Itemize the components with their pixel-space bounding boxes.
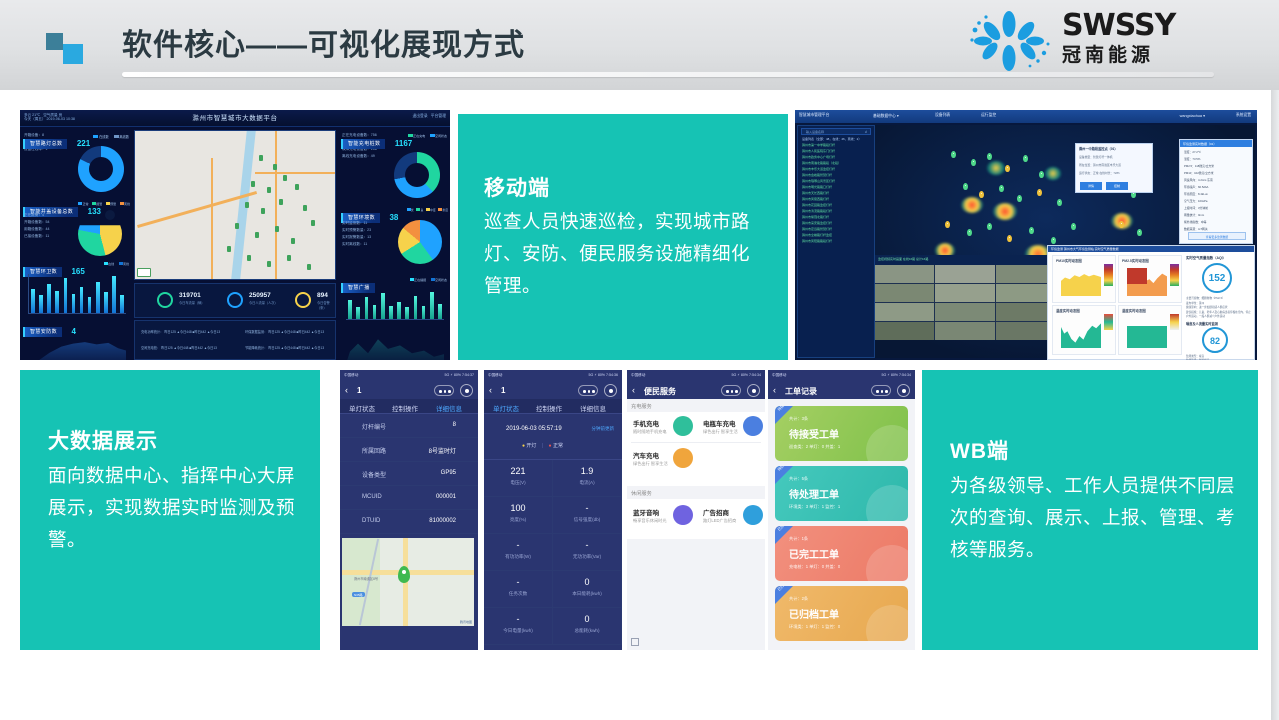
aqi-panel-title: 环境监测 滁州市大气环境监测站 实时空气质量数据 [1051, 247, 1119, 251]
wo-sub-2: 共计：1条 [789, 536, 808, 542]
timestamp-block: 2019-06-03 05:57:19 分钟前更新 ● 开灯 | ● 正常 [484, 416, 622, 460]
aqi-panel[interactable]: 环境监测 滁州市大气环境监测站 实时空气质量数据 PM10实时动态图 PM2.5… [1047, 245, 1255, 360]
logo-wordmark: SWSSY [1062, 10, 1175, 42]
gis-legend-title: 环境监测实时数据（01） [1180, 140, 1252, 147]
service-section-heading-1: 休闲服务 [631, 490, 652, 497]
chart-bar [88, 297, 92, 313]
bigdata-body: 面向数据中心、指挥中心大屏展示，实现数据实时监测及预警。 [48, 460, 310, 556]
back-icon[interactable]: ‹ [489, 385, 492, 395]
legend-broadcast: 正在播报 空闲状态 [410, 278, 447, 282]
detail-row: DTUID 81000002 [340, 510, 478, 534]
tree-item-11[interactable]: 滁州市清流路路段灯杆 [802, 209, 832, 213]
phone-lamp-detail[interactable]: 中国移动 5G ⚡ 80% 7:54:37 ‹ 1 单灯状态 控制操作 详细信息… [340, 370, 478, 650]
metric-value-9: 0 [553, 614, 621, 624]
summary-label-1: 今日人流量（人次） [249, 300, 278, 305]
dashboard-center: 319701 今日车流量（辆） 250957 今日人流量（人次） 894 今日告… [132, 128, 338, 360]
gis-nav-item-3[interactable]: 运行监控 [981, 113, 996, 118]
metric-label-6: 任务次数 [484, 591, 552, 597]
metric-cell: - 今日电量(kwh) [484, 608, 553, 645]
wo-title-1: 待处理工单 [789, 486, 839, 501]
phone-nav-title: 工单记录 [785, 386, 817, 397]
camera-tile[interactable] [875, 265, 934, 283]
web-text-block: WB端 为各级领导、工作人员提供不同层次的查询、展示、上报、管理、考核等服务。 [922, 370, 1258, 650]
map-badge: N35路 [352, 592, 365, 597]
more-menu-icon[interactable] [871, 385, 891, 396]
metric-cell: - 有功功率(W) [484, 534, 553, 571]
gis-popup-row-1: 所在位置：滁州市南谯区丰乐大道 [1079, 163, 1121, 167]
status-timestamp: 2019-06-03 05:57:19 [506, 426, 562, 432]
tree-item-5[interactable]: 滁州市会峰路智慧灯杆 [802, 173, 832, 177]
state-alarm-label: 正常 [553, 443, 563, 449]
camera-tile[interactable] [875, 303, 934, 321]
work-order-card[interactable]: 待处理 共计：5条 待处理工单 环境类：3 单灯：1 监控：1 [775, 466, 908, 521]
tree-item-12[interactable]: 滁州市紫薇北路灯杆 [802, 215, 829, 219]
gis-popup-title: 滁州一中路段监控点（01） [1079, 146, 1118, 151]
status-bar: 中国移动 5G ⚡ 80% 7:54:37 [340, 370, 478, 380]
service-section-0: 手机充电 随时随地手机充电 电瓶车充电 绿色出行 智享生活 汽车充电 绿色出行 … [627, 412, 765, 486]
carrier-label: 中国移动 [344, 373, 358, 378]
metric-value-4: - [484, 540, 552, 550]
aqi-note-3: 建议措施：儿童、老年人及心脏病患者停留在室内，停止户外运动，一般人群减少户外运动 [1186, 311, 1252, 320]
status-bar: 中国移动 5G ⚡ 80% 7:54:34 [627, 370, 765, 380]
aqi-sub-title: 噪音及人流量实时监测 [1186, 321, 1218, 326]
work-order-card[interactable]: 待接受 共计：3条 待接受工单 巡查类：2 单灯：0 井盖：1 [775, 406, 908, 461]
camera-tile[interactable] [935, 322, 994, 340]
state-on-label: 开灯 [526, 443, 536, 449]
aqi-index-title: 实时空气质量指数（AQI） [1186, 255, 1252, 260]
search-icon[interactable]: ☌ [865, 130, 867, 134]
metric-label-0: 电压(V) [484, 480, 552, 486]
gis-legend-row-4: 风速风向：4.2m/s 东南 [1184, 177, 1214, 184]
legend-chargers: 正在充电 空闲状态 [408, 134, 447, 138]
bar-chart-broadcast [346, 290, 444, 320]
chart-bar [64, 278, 68, 313]
gis-legend-row-2: PM2.5：118微克/立方米 [1184, 163, 1214, 170]
service-title-0[interactable]: 手机充电 [633, 418, 659, 428]
phone-tabs[interactable]: 单灯状态 控制操作 详细信息 [484, 399, 622, 414]
chart-bar [422, 306, 426, 320]
gis-legend-row-7: 空气压力：101kPa [1184, 198, 1214, 205]
decor-square-dark [46, 33, 63, 50]
metric-label-1: 电流(A) [553, 480, 621, 486]
wo-title-3: 已归档工单 [789, 606, 839, 621]
service-title-4[interactable]: 广告招商 [703, 507, 729, 517]
gis-popup-control-button[interactable]: 控制 [1106, 182, 1128, 190]
metric-label-9: 总能耗(kwh) [553, 628, 621, 634]
close-target-icon[interactable] [897, 384, 910, 397]
slide-header: 软件核心——可视化展现方式 SWSSY 冠南能源 [0, 0, 1279, 90]
phone-nav-title: 1 [501, 386, 505, 395]
tree-item-1[interactable]: 滁州市人民医院东门灯杆 [802, 149, 835, 153]
metric-value-5: - [553, 540, 621, 550]
metric-cell: 221 电压(V) [484, 460, 553, 497]
aqi-chart-temp: 温度实时动态图 [1052, 305, 1116, 355]
section-label-security: 智慧安防数 [23, 327, 62, 337]
tree-item-6[interactable]: 滁州市琅琊山风景区灯杆 [802, 179, 835, 183]
metric-value-3: - [553, 503, 621, 513]
chart-bar [414, 296, 418, 319]
phone-tabs[interactable]: 单灯状态 控制操作 详细信息 [340, 399, 478, 414]
aqi-index-block: 实时空气质量指数（AQI） 152 主要污染物：细颗粒物（PM2.5） 发布单位… [1186, 255, 1252, 357]
wo-sub-3: 共计：2条 [789, 596, 808, 602]
metric-cell: 1.9 电流(A) [553, 460, 622, 497]
map-credit: 腾讯地图 [460, 620, 472, 624]
pie-chart-environment [398, 220, 442, 264]
refresh-label[interactable]: 分钟前更新 [592, 426, 615, 432]
wo-meta-0: 巡查类：2 单灯：0 井盖：1 [789, 444, 840, 450]
kv-row-1: 空闲充电桩： 昨日125 ▲今日448 ■昨日442 ▲今日13 [141, 345, 217, 350]
detail-label-3: MCUID [362, 494, 382, 500]
home-indicator-icon [631, 638, 639, 646]
aqi-sub-note-1: 监测等级：轻度噪音 [1186, 359, 1215, 360]
service-sub-2: 绿色出行 智享生活 [633, 461, 668, 467]
camera-tile[interactable] [996, 322, 1055, 340]
ad-screen-icon [743, 505, 763, 525]
phone-nav-title: 便民服务 [644, 386, 676, 397]
ebike-charge-icon [743, 416, 763, 436]
carrier-label: 中国移动 [772, 373, 786, 378]
kv-row-3: 节能降耗统计： 昨日125 ▲今日448 ■昨日442 ▲今日13 [245, 345, 324, 350]
bigdata-text-block: 大数据展示 面向数据中心、指挥中心大屏展示，实现数据实时监测及预警。 [20, 370, 320, 650]
tree-item-10[interactable]: 滁州市花园路监控灯杆 [802, 203, 832, 207]
camera-tile[interactable] [935, 265, 994, 283]
phone-nav-title: 1 [357, 386, 361, 395]
camera-tile[interactable] [935, 284, 994, 302]
chart-bar [438, 304, 442, 319]
kv-row-2: 环保数据监测： 昨日125 ▲今日448 ■昨日442 ▲今日13 [245, 329, 324, 334]
chart-bar [112, 276, 116, 313]
gis-legend-row-6: 环境照度：8.4kLux [1184, 191, 1214, 198]
metric-label-3: 信号强度(db) [553, 517, 621, 523]
tree-item-3[interactable]: 滁州市南谯北路路段（北段） [802, 161, 841, 165]
gis-popup-detail-button[interactable]: 详情 [1080, 182, 1102, 190]
logo-chinese-name: 冠南能源 [1062, 44, 1175, 68]
gis-popup[interactable]: 滁州一中路段监控点（01） 设备类型：智慧灯杆一体机 所在位置：滁州市南谯区丰乐… [1075, 143, 1153, 193]
service-section-heading-0: 充电服务 [631, 403, 652, 410]
metric-cell: 0 总能耗(kwh) [553, 608, 622, 645]
tree-item-9[interactable]: 滁州市凤凰西路灯杆 [802, 197, 829, 201]
chart-bar [397, 302, 401, 319]
metric-value-7: 0 [553, 577, 621, 587]
chart-bar [381, 293, 385, 319]
metric-label-8: 今日电量(kwh) [484, 628, 552, 634]
aqi-chart-pm10-title: PM10实时动态图 [1056, 258, 1082, 263]
metric-cell: 100 亮度(%) [484, 497, 553, 534]
carrier-label: 中国移动 [631, 373, 645, 378]
detail-value-1: 8号监时灯 [429, 446, 456, 455]
camera-tile[interactable] [875, 284, 934, 302]
tab-detail[interactable]: 详细信息 [436, 403, 462, 413]
gis-legend-row-0: 温度：27.2℃ [1184, 149, 1214, 156]
stats-environment: 实时监测数：11实时预警数量：23实时报警数量：13实时离线数：11 [342, 220, 371, 248]
summary-label-2: 今日告警（条） [317, 300, 335, 310]
detail-label-1: 所属回路 [362, 446, 386, 455]
web-heading: WB端 [950, 435, 1009, 465]
detail-label-2: 设备类型 [362, 470, 386, 479]
metric-label-5: 无功功率(Var) [553, 554, 621, 560]
tab-control[interactable]: 控制操作 [392, 403, 418, 413]
section-value-manholes: 133 [88, 207, 101, 216]
gis-settings-link[interactable]: 系统设置 [1236, 113, 1251, 118]
gis-map-canvas[interactable]: 滁州一中路段监控点（01） 设备类型：智慧灯杆一体机 所在位置：滁州市南谯区丰乐… [875, 125, 1255, 358]
detail-row: 所属回路 8号监时灯 [340, 438, 478, 462]
service-sub-0: 随时随地手机充电 [633, 429, 667, 435]
gis-console-screenshot[interactable]: 智慧城市管理平台 基础数据中心 ▾ 设备列表 运行监控 wangxiaohua … [795, 110, 1257, 360]
gis-legend-row-5: 环境噪声：60.5dbA [1184, 184, 1214, 191]
chart-bar [96, 282, 100, 313]
gis-popup-row-2: 运行状态：正常 在线时长：728h [1079, 171, 1120, 175]
phone-navbar: ‹ 便民服务 [627, 380, 765, 399]
detail-label-0: 灯杆编号 [362, 422, 386, 431]
service-sub-1: 绿色出行 智享生活 [703, 429, 738, 435]
tree-item-7[interactable]: 滁州市明光路路口灯杆 [802, 185, 832, 189]
aqi-chart-pm10: PM10实时动态图 [1052, 255, 1116, 303]
metric-cell: 0 本日能耗(kwh) [553, 571, 622, 608]
alarm-icon: ● [549, 443, 552, 449]
camera-tile[interactable] [996, 303, 1055, 321]
bigdata-dashboard-screenshot[interactable]: 多云 21℃ 空气质量 良 今天（周五） 2019-06-03 10:38 滁州… [20, 110, 450, 360]
aqi-panel-header: 环境监测 滁州市大气环境监测站 实时空气质量数据 [1048, 246, 1254, 252]
tree-item-2[interactable]: 滁州市政务中心广场灯杆 [802, 155, 835, 159]
tab-control[interactable]: 控制操作 [536, 403, 562, 413]
wo-meta-1: 环境类：3 单灯：1 监控：1 [789, 504, 840, 510]
map-label: 滁州市南谯区8号 [354, 576, 378, 581]
phone-navbar: ‹ 工单记录 [768, 380, 915, 399]
decor-square-blue [63, 44, 83, 64]
web-body: 为各级领导、工作人员提供不同层次的查询、展示、上报、管理、考核等服务。 [950, 470, 1246, 566]
metric-value-1: 1.9 [553, 466, 621, 476]
mobile-heading: 移动端 [484, 172, 550, 202]
metric-value-8: - [484, 614, 552, 624]
status-bar: 中国移动 5G ⚡ 80% 7:54:34 [768, 370, 915, 380]
chart-bar [356, 307, 360, 319]
aqi-chart-temp-title: 温度实时动态图 [1056, 308, 1080, 313]
metric-cell: - 任务次数 [484, 571, 553, 608]
pie-chart-manholes [78, 212, 122, 256]
map-marker-icon [398, 566, 410, 583]
tab-lamp-status[interactable]: 单灯状态 [349, 403, 375, 413]
close-target-icon[interactable] [604, 384, 617, 397]
metric-label-4: 有功功率(W) [484, 554, 552, 560]
gis-legend-row-9: 雨量统计：0mm [1184, 212, 1214, 219]
service-sub-3: 畅享音乐休闲时光 [633, 518, 667, 524]
metric-label-7: 本日能耗(kwh) [553, 591, 621, 597]
tree-root[interactable]: 设备列表（全部：48，在线：46，离线：2） [802, 137, 861, 141]
tab-detail[interactable]: 详细信息 [580, 403, 606, 413]
dashboard-left-column: 智慧路灯总数 221 在线数 离线数 开箱设备：8开箱总数：212设备在线率：1… [20, 128, 132, 360]
phone-work-orders[interactable]: 中国移动 5G ⚡ 80% 7:54:34 ‹ 工单记录 待接受 共计：3条 待… [768, 370, 915, 650]
lamp-on-icon: ● [522, 443, 525, 449]
detail-value-4: 81000002 [429, 518, 456, 524]
tree-item-15[interactable]: 滁州市全椒路灯杆监控 [802, 233, 832, 237]
service-title-3[interactable]: 蓝牙音响 [633, 507, 659, 517]
work-order-card[interactable]: 已完工 共计：1条 已完工工单 充电桩：1 单灯：0 井盖：0 [775, 526, 908, 581]
location-map[interactable]: 滁州市南谯区8号 N35路 腾讯地图 [342, 538, 474, 626]
brand-logo: SWSSY 冠南能源 [966, 8, 1221, 74]
car-charge-icon [673, 448, 693, 468]
aqi-chart-humidity: 湿度实时动态图 [1118, 305, 1182, 355]
more-menu-icon[interactable] [721, 385, 741, 396]
dashboard-title: 滁州市智慧城市大数据平台 [192, 112, 277, 122]
slide-right-edge [1271, 90, 1279, 720]
section-label-chargers: 智能充电桩数 [341, 139, 385, 149]
summary-value-0: 319701 [179, 292, 201, 299]
bar-chart-sanitation [28, 274, 126, 314]
detail-row: MCUID 000001 [340, 486, 478, 510]
city-map[interactable] [134, 130, 336, 280]
camera-tile[interactable] [996, 265, 1055, 283]
page-title: 软件核心——可视化展现方式 [122, 20, 525, 64]
bigdata-heading: 大数据展示 [48, 425, 158, 455]
service-section-1: 蓝牙音响 畅享音乐休闲时光 广告招商 路灯LED广告招商 [627, 499, 765, 539]
chart-bar [389, 306, 393, 319]
summary-value-2: 894 [317, 292, 328, 299]
back-icon[interactable]: ‹ [345, 385, 348, 395]
detail-value-3: 000001 [436, 494, 456, 500]
back-icon[interactable]: ‹ [632, 385, 635, 395]
camera-tile[interactable] [996, 284, 1055, 302]
metric-cell: - 信号强度(db) [553, 497, 622, 534]
chart-bar [55, 291, 59, 313]
chart-bar [31, 289, 35, 313]
legend-manholes: 正常 报警 预警 离线 [78, 202, 130, 206]
status-right: 5G ⚡ 80% 7:54:34 [732, 373, 762, 377]
wo-sub-0: 共计：3条 [789, 416, 808, 422]
gis-nav-item-0[interactable]: 智慧城市管理平台 [799, 113, 829, 118]
chart-bar [373, 305, 377, 319]
metric-value-0: 221 [484, 466, 552, 476]
chart-bar [47, 284, 51, 313]
section-value-lamps: 221 [77, 139, 90, 148]
summary-cards: 319701 今日车流量（辆） 250957 今日人流量（人次） 894 今日告… [134, 283, 336, 318]
gis-device-tree[interactable]: 输入设备名称 ☌ 设备列表（全部：48，在线：46，离线：2） 滁州市第一中学路… [797, 125, 875, 358]
service-title-2[interactable]: 汽车充电 [633, 450, 659, 460]
section-value-environment: 38 [389, 213, 398, 222]
gis-user-menu[interactable]: wangxiaohua ▾ [1180, 113, 1205, 118]
gis-popup-row-0: 设备类型：智慧灯杆一体机 [1079, 155, 1113, 159]
dashboard-topbar-actions[interactable]: 退出登录 平台管理 [412, 114, 446, 119]
gis-legend-row-3: PM10：102微克/立方米 [1184, 170, 1214, 177]
wo-sub-1: 共计：5条 [789, 476, 808, 482]
chart-bar [348, 300, 352, 319]
detail-row: 灯杆编号 8 [340, 414, 478, 438]
metric-value-6: - [484, 577, 552, 587]
camera-tile[interactable] [875, 322, 934, 340]
close-target-icon[interactable] [460, 384, 473, 397]
section-label-lamps: 智慧路灯总数 [23, 139, 67, 149]
tab-lamp-status[interactable]: 单灯状态 [493, 403, 519, 413]
aqi-sub-value: 82 [1202, 327, 1228, 353]
legend-lamps: 在线数 离线数 [93, 134, 129, 139]
status-bar: 中国移动 5G ⚡ 80% 7:54:36 [484, 370, 622, 380]
chart-bar [72, 294, 76, 313]
camera-tile[interactable] [935, 303, 994, 321]
mobile-text-block: 移动端 巡查人员快速巡检，实现城市路灯、安防、便民服务设施精细化管理。 [458, 114, 788, 360]
phone-charge-icon [673, 416, 693, 436]
legend-environment: 优 良 中度 重度 [407, 208, 448, 212]
status-right: 5G ⚡ 80% 7:54:36 [589, 373, 619, 377]
kv-statistics: 充电功率统计： 昨日125 ▲今日448 ■昨日442 ▲今日13 空闲充电桩：… [134, 320, 336, 360]
back-icon[interactable]: ‹ [773, 385, 776, 395]
detail-value-2: GP95 [441, 470, 456, 476]
detail-row: 设备类型 GP95 [340, 462, 478, 486]
aqi-chart-pm25-title: PM2.5实时动态图 [1122, 258, 1149, 263]
more-menu-icon[interactable] [578, 385, 598, 396]
chart-bar [39, 295, 43, 313]
summary-label-0: 今日车流量（辆） [179, 300, 205, 305]
phone-public-service[interactable]: 中国移动 5G ⚡ 80% 7:54:34 ‹ 便民服务 充电服务 手机充电 随… [627, 370, 765, 650]
chart-bar [104, 292, 108, 313]
metric-cell: - 无功功率(Var) [553, 534, 622, 571]
gis-nav-item-2[interactable]: 设备列表 [935, 113, 950, 118]
dashboard-weather: 多云 21℃ 空气质量 良 今天（周五） 2019-06-03 10:38 [24, 113, 75, 121]
section-value-security: 4 [71, 327, 75, 336]
service-title-1[interactable]: 电瓶车充电 [703, 418, 736, 428]
gis-legend-row-8: 上报时间：3分钟前 [1184, 205, 1214, 212]
tree-item-8[interactable]: 滁州市天长西路灯杆 [802, 191, 829, 195]
chart-bar [405, 307, 409, 319]
section-value-chargers: 1167 [395, 139, 412, 148]
bluetooth-speaker-icon [673, 505, 693, 525]
gis-env-legend[interactable]: 环境监测实时数据（01） 温度：27.2℃ 湿度：73.5% PM2.5：118… [1179, 139, 1253, 244]
detail-value-0: 8 [453, 422, 456, 428]
gis-legend-row-10: 紫外线指数：中等 [1184, 219, 1214, 226]
phone-navbar: ‹ 1 [484, 380, 622, 399]
mobile-body: 巡查人员快速巡检，实现城市路灯、安防、便民服务设施精细化管理。 [484, 206, 764, 302]
tree-item-14[interactable]: 滁州市定远路智慧灯杆 [802, 227, 832, 231]
chart-bar [120, 295, 124, 314]
legend-sanitation: 在线 离线 [104, 262, 129, 266]
chart-bar [365, 297, 369, 319]
gis-legend-more-button[interactable]: 查看更多监测数据 [1188, 232, 1246, 240]
chart-bar [430, 292, 434, 319]
area-chart-broadcast [344, 326, 444, 360]
gis-legend-row-1: 湿度：73.5% [1184, 156, 1214, 163]
metric-label-2: 亮度(%) [484, 517, 552, 523]
tree-item-13[interactable]: 滁州市来安路监控灯杆 [802, 221, 832, 225]
metric-value-2: 100 [484, 503, 552, 513]
phone-navbar: ‹ 1 [340, 380, 478, 399]
status-right: 5G ⚡ 80% 7:54:37 [445, 373, 475, 377]
phone-lamp-status[interactable]: 中国移动 5G ⚡ 80% 7:54:36 ‹ 1 单灯状态 控制操作 详细信息… [484, 370, 622, 650]
wo-meta-3: 环境类：1 单灯：1 监控：0 [789, 624, 840, 630]
summary-value-1: 250957 [249, 292, 271, 299]
gis-search-input[interactable]: 输入设备名称 ☌ [801, 128, 871, 135]
detail-label-4: DTUID [362, 518, 380, 524]
kv-row-0: 充电功率统计： 昨日125 ▲今日448 ■昨日442 ▲今日13 [141, 329, 220, 334]
tree-item-0[interactable]: 滁州市第一中学路段灯杆 [802, 143, 835, 147]
wo-meta-2: 充电桩：1 单灯：0 井盖：0 [789, 564, 840, 570]
work-order-card[interactable]: 已归档 共计：2条 已归档工单 环境类：1 单灯：1 监控：0 [775, 586, 908, 641]
gis-navbar[interactable]: 智慧城市管理平台 基础数据中心 ▾ 设备列表 运行监控 wangxiaohua … [795, 110, 1257, 123]
aqi-index-value: 152 [1202, 263, 1232, 293]
dashboard-right-column: 智能充电桩数 1167 正在充电 空闲状态 正在充电设备数：756空闲充电设备数… [338, 128, 450, 360]
gis-nav-item-1[interactable]: 基础数据中心 ▾ [873, 113, 899, 119]
service-sub-4: 路灯LED广告招商 [703, 518, 736, 524]
tree-item-16[interactable]: 滁州市凤阳路路段灯杆 [802, 239, 832, 243]
tree-item-4[interactable]: 滁州市丰乐大道监控灯杆 [802, 167, 835, 171]
aqi-chart-pm25: PM2.5实时动态图 [1118, 255, 1182, 303]
water-drop-flower-icon [966, 10, 1052, 72]
wo-title-2: 已完工工单 [789, 546, 839, 561]
status-right: 5G ⚡ 80% 7:54:34 [882, 373, 912, 377]
close-target-icon[interactable] [747, 384, 760, 397]
wo-title-0: 待接受工单 [789, 426, 839, 441]
aqi-chart-humidity-title: 湿度实时动态图 [1122, 308, 1146, 313]
more-menu-icon[interactable] [434, 385, 454, 396]
stats-manholes: 正在报警：4开箱设备数：54用箱设备数：44已接设备数：11 [24, 212, 50, 240]
chart-bar [80, 287, 84, 313]
